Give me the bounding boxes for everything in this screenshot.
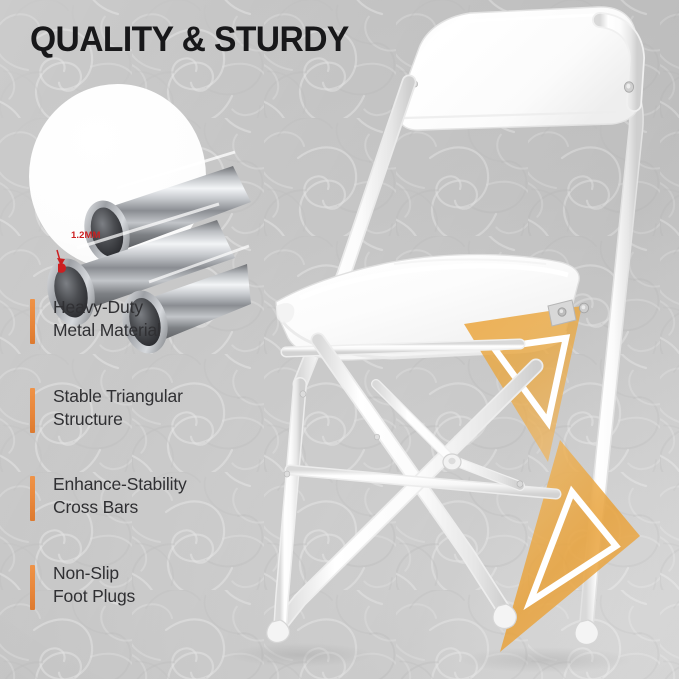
accent-bar-icon — [30, 476, 35, 521]
page-title: QUALITY & STURDY — [30, 22, 349, 57]
feature-label: Heavy-Duty Metal Material — [53, 296, 280, 343]
feature-item-stable-triangular-structure: Stable Triangular Structure — [30, 385, 280, 432]
steel-tube-inset: 1.2MM — [29, 84, 206, 269]
feature-item-enhance-stability-cross-bars: Enhance-Stability Cross Bars — [30, 473, 280, 520]
feature-label: Non-Slip Foot Plugs — [53, 562, 280, 609]
feature-label: Stable Triangular Structure — [53, 385, 280, 432]
feature-list: Heavy-Duty Metal Material Stable Triangu… — [30, 296, 280, 608]
feature-label: Enhance-Stability Cross Bars — [53, 473, 280, 520]
accent-bar-icon — [30, 299, 35, 344]
tube-thickness-label: 1.2MM — [71, 230, 101, 241]
accent-bar-icon — [30, 565, 35, 610]
product-infographic: QUALITY & STURDY — [0, 0, 679, 679]
feature-item-non-slip-foot-plugs: Non-Slip Foot Plugs — [30, 562, 280, 609]
feature-item-heavy-duty-metal-material: Heavy-Duty Metal Material — [30, 296, 280, 343]
accent-bar-icon — [30, 388, 35, 433]
